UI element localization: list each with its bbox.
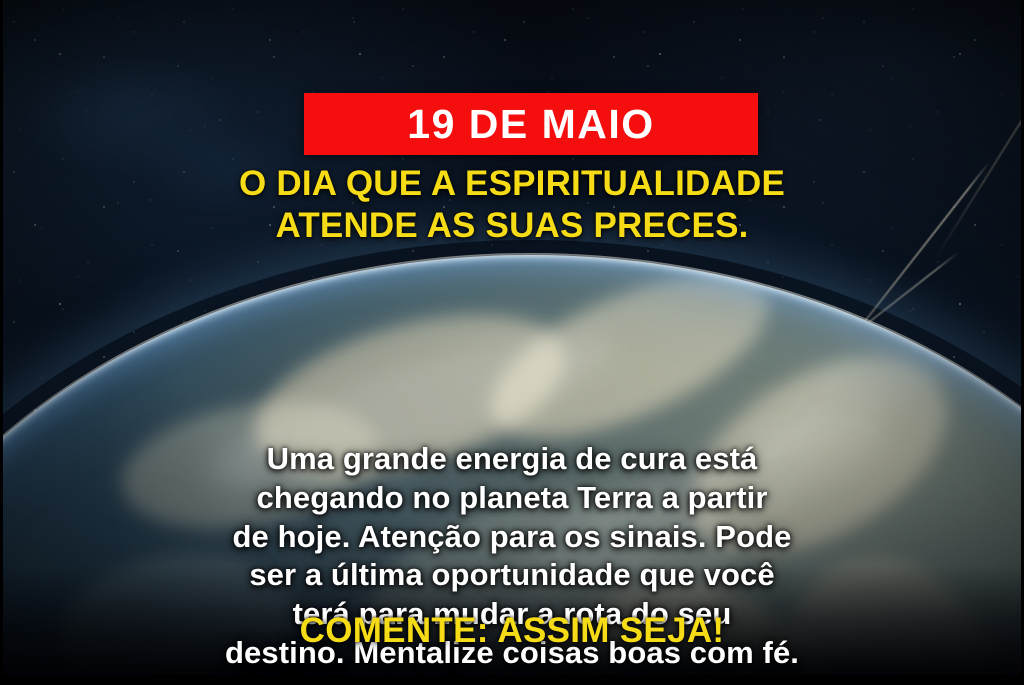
date-banner-label: 19 DE MAIO xyxy=(407,104,654,145)
headline-line-1: O DIA QUE A ESPIRITUALIDADE xyxy=(0,163,1024,205)
headline-line-2: ATENDE AS SUAS PRECES. xyxy=(0,205,1024,247)
poster-canvas: 19 DE MAIO O DIA QUE A ESPIRITUALIDADE A… xyxy=(0,0,1024,685)
body-line-3: de hoje. Atenção para os sinais. Pode xyxy=(0,518,1024,557)
body-line-4: ser a última oportunidade que você xyxy=(0,556,1024,595)
body-line-2: chegando no planeta Terra a partir xyxy=(0,479,1024,518)
edge-bar-left xyxy=(0,0,3,685)
call-to-action-label: COMENTE: ASSIM SEJA! xyxy=(0,612,1024,651)
headline: O DIA QUE A ESPIRITUALIDADE ATENDE AS SU… xyxy=(0,163,1024,246)
edge-bar-bottom xyxy=(0,675,1024,685)
poster-content: 19 DE MAIO O DIA QUE A ESPIRITUALIDADE A… xyxy=(0,0,1024,685)
body-line-1: Uma grande energia de cura está xyxy=(0,440,1024,479)
date-banner: 19 DE MAIO xyxy=(304,93,758,155)
